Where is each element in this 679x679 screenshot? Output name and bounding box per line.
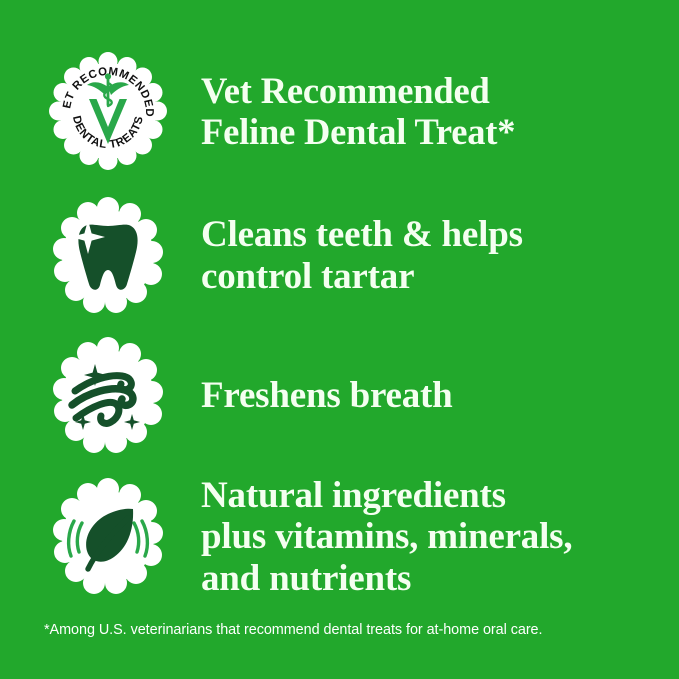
- feature-label: Freshens breath: [201, 375, 453, 417]
- feature-label: Natural ingredients plus vitamins, miner…: [201, 475, 572, 599]
- feature-label: Vet Recommended Feline Dental Treat*: [201, 70, 515, 152]
- feature-row: Cleans teeth & helps control tartar: [0, 184, 679, 328]
- sparkling-tooth-icon: [48, 196, 168, 316]
- fresh-breath-swirl-icon: [48, 336, 168, 456]
- feature-row: Natural ingredients plus vitamins, miner…: [0, 464, 679, 610]
- feature-row: VET RECOMMENDED DENTAL TREATS: [0, 38, 679, 184]
- vet-recommended-seal-icon: VET RECOMMENDED DENTAL TREATS: [48, 51, 168, 171]
- leaf-natural-ingredients-icon: [48, 477, 168, 597]
- feature-list: VET RECOMMENDED DENTAL TREATS: [0, 0, 679, 610]
- footnote: *Among U.S. veterinarians that recommend…: [44, 622, 644, 639]
- benefits-panel: VET RECOMMENDED DENTAL TREATS: [0, 0, 679, 679]
- feature-label: Cleans teeth & helps control tartar: [201, 214, 523, 298]
- feature-row: Freshens breath: [0, 328, 679, 464]
